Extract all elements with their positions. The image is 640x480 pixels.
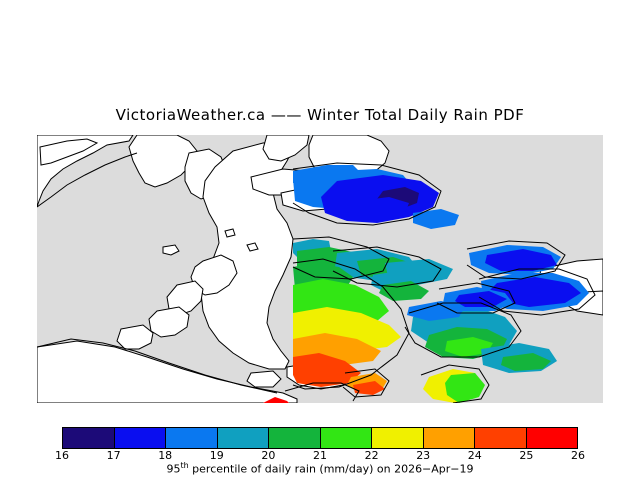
colorbar-segment-4[interactable] [269,428,321,448]
colorbar-segment-3[interactable] [218,428,270,448]
colorbar-segment-8[interactable] [475,428,527,448]
colorbar-caption: 95th percentile of daily rain (mm/day) o… [0,461,640,476]
colorbar-segment-1[interactable] [115,428,167,448]
page-title: VictoriaWeather.ca —— Winter Total Daily… [0,106,640,124]
colorbar-segment-7[interactable] [424,428,476,448]
contour-fills [263,165,589,403]
colorbar-segment-2[interactable] [166,428,218,448]
water-lake-2 [225,229,235,237]
map-svg [37,135,603,403]
water-sooke [149,307,189,337]
water-northeast-arm [263,135,309,161]
colorbar-segment-5[interactable] [321,428,373,448]
colorbar-segment-6[interactable] [372,428,424,448]
water-sooke2 [117,325,153,349]
water-lake-1 [163,245,179,255]
caption-rest: percentile of daily rain (mm/day) on 202… [189,463,474,476]
caption-superscript: th [180,461,188,470]
water-olympic-2 [247,371,281,387]
weather-map-page: VictoriaWeather.ca —— Winter Total Daily… [0,0,640,480]
colorbar-segment-9[interactable] [527,428,578,448]
colorbar-segment-0[interactable] [63,428,115,448]
map-canvas[interactable] [37,135,603,403]
colorbar[interactable] [62,427,578,449]
caption-prefix: 95 [166,463,180,476]
